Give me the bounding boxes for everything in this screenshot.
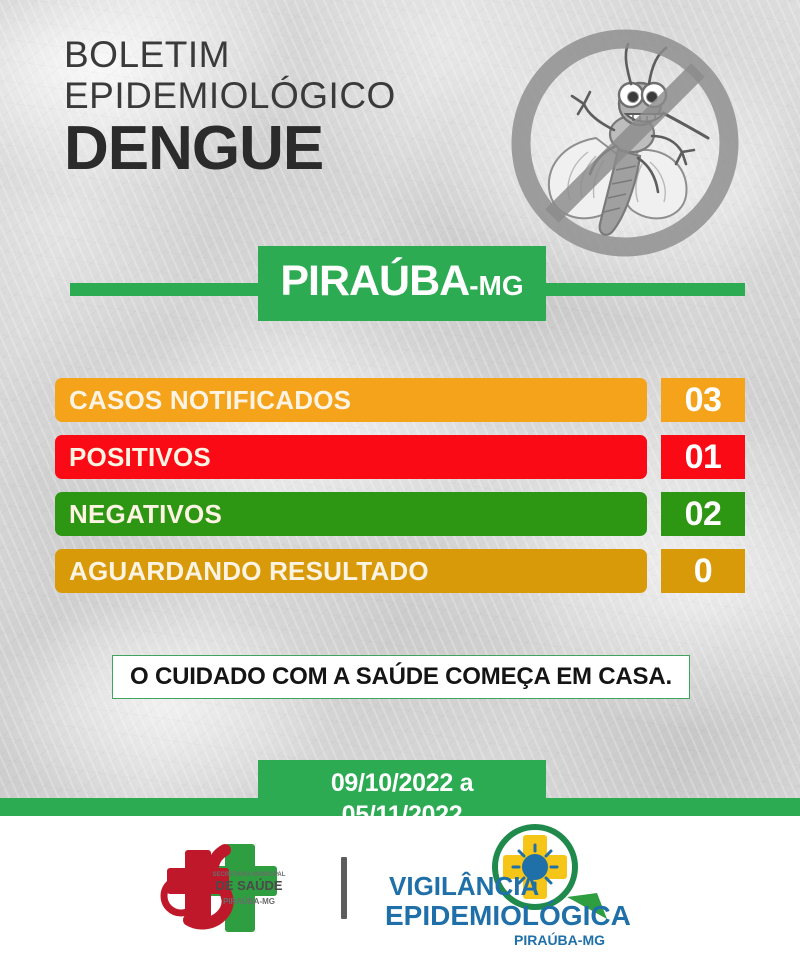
- title-line-epidemiologico: EPIDEMIOLÓGICO: [64, 75, 484, 116]
- period-line-1: 09/10/2022 a: [331, 767, 473, 799]
- stat-value-negativos: 02: [685, 496, 722, 532]
- city-rule-right: [530, 283, 745, 296]
- footer-logos: SECRETARIA MUNICIPAL DE SAÚDE PIRAÚBA-MG: [0, 816, 800, 960]
- slogan-box: O CUIDADO COM A SAÚDE COMEÇA EM CASA.: [112, 655, 690, 699]
- stat-value-casos-notificados: 03: [685, 382, 722, 418]
- stat-row-positivos: POSITIVOS 01: [55, 435, 745, 479]
- city-name-text: PIRAÚBA: [280, 257, 469, 305]
- statistics-list: CASOS NOTIFICADOS 03 POSITIVOS 01 NEGATI…: [55, 378, 745, 606]
- stat-row-aguardando-resultado: AGUARDANDO RESULTADO 0: [55, 549, 745, 593]
- stat-bar-casos-notificados: CASOS NOTIFICADOS: [55, 378, 647, 422]
- stat-value-aguardando-resultado: 0: [694, 553, 712, 589]
- stat-label-casos-notificados: CASOS NOTIFICADOS: [69, 386, 351, 414]
- slogan-text: O CUIDADO COM A SAÚDE COMEÇA EM CASA.: [130, 664, 672, 690]
- saude-logo-line3: PIRAÚBA-MG: [223, 897, 275, 906]
- stat-label-negativos: NEGATIVOS: [69, 500, 222, 528]
- vigilancia-logo-line3: PIRAÚBA-MG: [514, 931, 605, 948]
- city-name: PIRAÚBA-MG: [280, 259, 523, 308]
- stat-bar-positivos: POSITIVOS: [55, 435, 647, 479]
- stat-label-positivos: POSITIVOS: [69, 443, 211, 471]
- stat-bar-negativos: NEGATIVOS: [55, 492, 647, 536]
- health-cross-logo: SECRETARIA MUNICIPAL DE SAÚDE PIRAÚBA-MG: [129, 828, 329, 948]
- footer-divider: [341, 857, 347, 919]
- stat-badge-negativos: 02: [661, 492, 745, 536]
- poster-title: BOLETIM EPIDEMIOLÓGICO DENGUE: [64, 34, 484, 180]
- saude-logo-line2: DE SAÚDE: [215, 878, 283, 893]
- stat-label-aguardando-resultado: AGUARDANDO RESULTADO: [69, 557, 429, 585]
- city-banner: PIRAÚBA-MG: [258, 246, 546, 321]
- dengue-bulletin-poster: BOLETIM EPIDEMIOLÓGICO DENGUE: [0, 0, 800, 960]
- vigilancia-logo-line1: VIGILÂNCIA: [389, 871, 539, 901]
- stat-row-negativos: NEGATIVOS 02: [55, 492, 745, 536]
- stat-badge-positivos: 01: [661, 435, 745, 479]
- city-state-suffix: -MG: [469, 270, 523, 301]
- stat-badge-casos-notificados: 03: [661, 378, 745, 422]
- stat-row-casos-notificados: CASOS NOTIFICADOS 03: [55, 378, 745, 422]
- vigilancia-logo-line2: EPIDEMIOLÓGICA: [385, 900, 631, 931]
- stat-badge-aguardando-resultado: 0: [661, 549, 745, 593]
- stat-value-positivos: 01: [685, 439, 722, 475]
- stat-bar-aguardando-resultado: AGUARDANDO RESULTADO: [55, 549, 647, 593]
- title-line-boletim: BOLETIM: [64, 34, 484, 75]
- magnifier-virus-cross-logo: VIGILÂNCIA EPIDEMIOLÓGICA PIRAÚBA-MG: [371, 823, 671, 953]
- no-mosquito-icon: [500, 18, 750, 268]
- title-line-dengue: DENGUE: [64, 118, 484, 180]
